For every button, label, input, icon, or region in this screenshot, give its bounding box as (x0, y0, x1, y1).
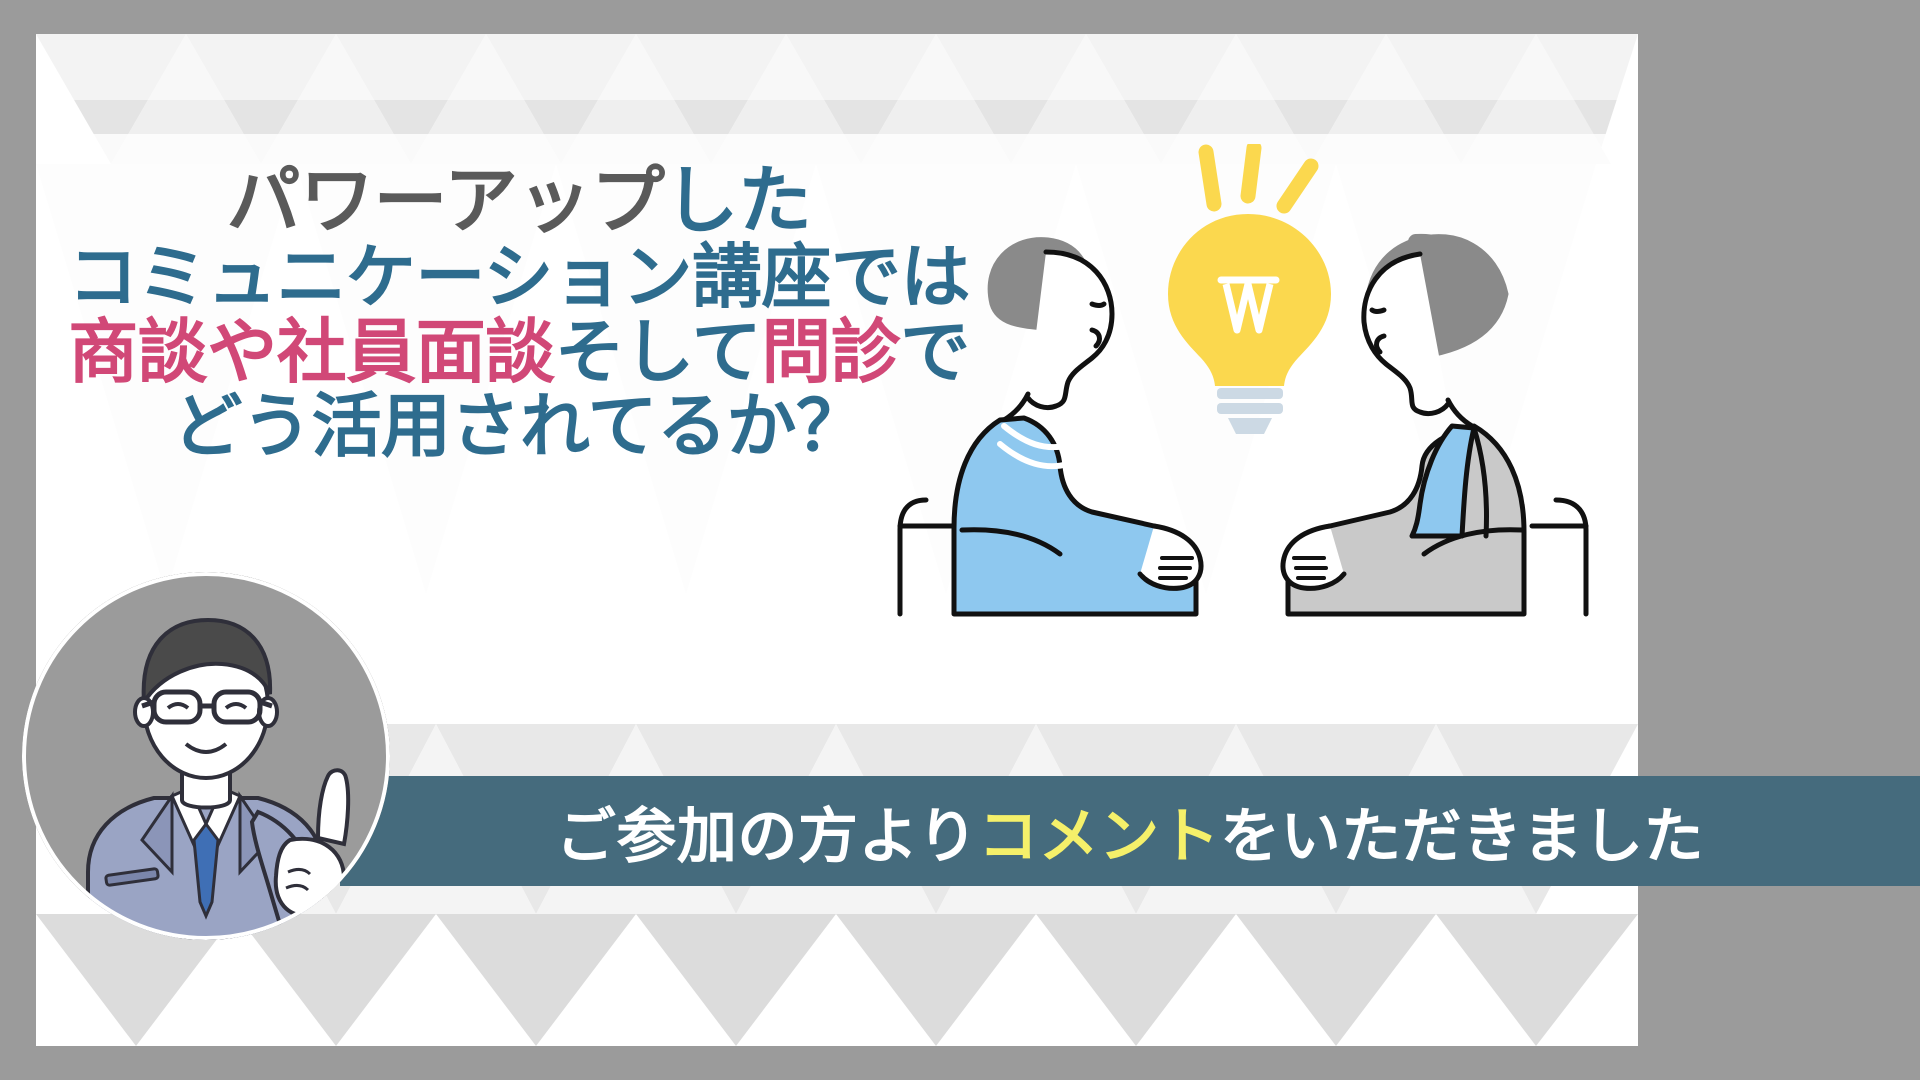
headline-line1-gray: パワーアップ (226, 159, 664, 242)
headline-line1-blue: した (665, 159, 812, 242)
headline-line2-blue: コミュニケーション講座では (68, 238, 970, 316)
headline-line3-pink-a: 商談や社員面談 (68, 313, 555, 391)
headline-line-1: パワーアップした (54, 162, 984, 240)
presenter-avatar (22, 572, 390, 940)
bottom-banner: ご参加の方よりコメントをいただきました (340, 776, 1920, 886)
banner-text-highlight: コメント (978, 803, 1220, 870)
headline-line-2: コミュニケーション講座では (54, 240, 984, 314)
person-left (900, 240, 1201, 614)
headline-line-3: 商談や社員面談そして問診で (54, 315, 984, 389)
banner-text-before: ご参加の方より (556, 803, 978, 870)
headline-line-4: どう活用されてるか？ (54, 389, 984, 463)
headline-line3-pink-b: 問診 (761, 313, 900, 391)
headline-line4-blue: どう活用されてるか？ (173, 387, 866, 465)
headline-line3-blue-a: そして (555, 313, 761, 391)
slide-canvas: パワーアップした コミュニケーション講座では 商談や社員面談そして問診で どう活… (0, 0, 1920, 1080)
headline-text-block: パワーアップした コミュニケーション講座では 商談や社員面談そして問診で どう活… (54, 162, 984, 463)
banner-text: ご参加の方よりコメントをいただきました (556, 788, 1704, 875)
conversation-illustration (896, 144, 1626, 644)
lightbulb-icon (1168, 148, 1331, 434)
banner-text-after: をいただきました (1220, 803, 1704, 870)
